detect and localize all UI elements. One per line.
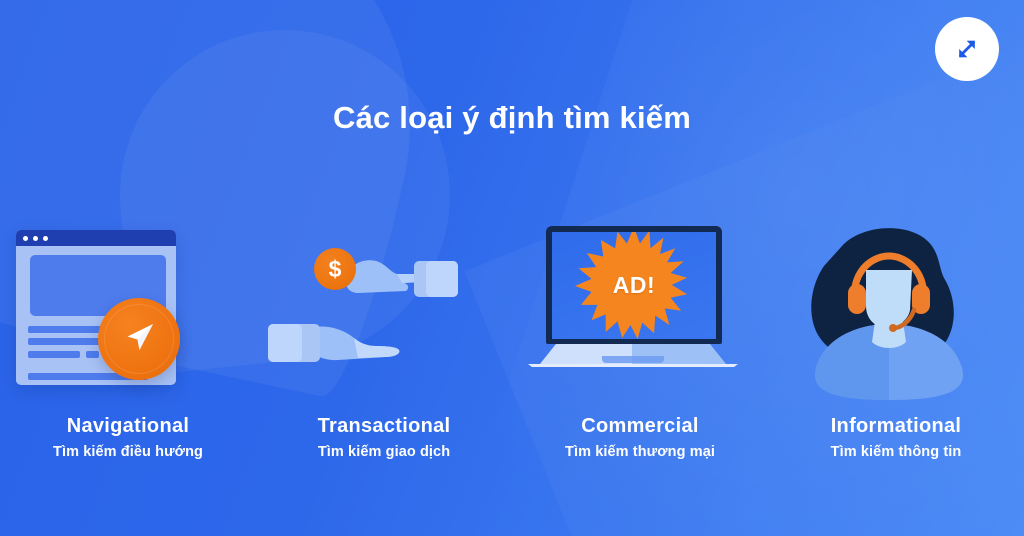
infographic-canvas: Các loại ý định tìm kiếm bbox=[0, 0, 1024, 536]
browser-dot-icon bbox=[23, 236, 28, 241]
intent-columns: Navigational Tìm kiếm điều hướng $ bbox=[0, 216, 1024, 486]
browser-dot-icon bbox=[43, 236, 48, 241]
laptop-device: AD! bbox=[520, 226, 746, 386]
label-en-transactional: Transactional bbox=[318, 414, 451, 439]
label-en-informational: Informational bbox=[831, 414, 962, 439]
browser-dot-icon bbox=[33, 236, 38, 241]
browser-text-line bbox=[86, 351, 99, 358]
hand-receiving-icon bbox=[266, 312, 416, 364]
headset-earcup-left-icon bbox=[848, 284, 866, 314]
laptop-screen: AD! bbox=[552, 232, 716, 339]
illustration-laptop-ad: AD! bbox=[512, 216, 768, 412]
laptop-trackpad bbox=[602, 356, 664, 363]
expand-button[interactable] bbox=[935, 17, 999, 81]
column-navigational[interactable]: Navigational Tìm kiếm điều hướng bbox=[0, 216, 256, 486]
browser-title-bar bbox=[16, 230, 176, 246]
illustration-support-agent bbox=[768, 216, 1024, 412]
label-en-navigational: Navigational bbox=[53, 414, 203, 439]
label-group-transactional: Transactional Tìm kiếm giao dịch bbox=[318, 414, 451, 460]
label-vi-commercial: Tìm kiếm thương mại bbox=[565, 444, 715, 460]
label-en-commercial: Commercial bbox=[565, 414, 715, 439]
dollar-coin: $ bbox=[314, 248, 356, 290]
navigation-badge bbox=[98, 298, 180, 380]
label-vi-informational: Tìm kiếm thông tin bbox=[831, 444, 962, 460]
browser-text-line bbox=[28, 351, 80, 358]
label-vi-navigational: Tìm kiếm điều hướng bbox=[53, 444, 203, 460]
ad-label: AD! bbox=[613, 271, 655, 298]
column-informational[interactable]: Informational Tìm kiếm thông tin bbox=[768, 216, 1024, 486]
paper-plane-navigation-icon bbox=[118, 316, 160, 363]
dollar-sign-icon: $ bbox=[329, 258, 342, 281]
support-agent-figure bbox=[798, 218, 980, 398]
label-group-navigational: Navigational Tìm kiếm điều hướng bbox=[53, 414, 203, 460]
column-transactional[interactable]: $ Transactional Tìm kiếm giao dịch bbox=[256, 216, 512, 486]
laptop-lid: AD! bbox=[546, 226, 722, 344]
page-title: Các loại ý định tìm kiếm bbox=[0, 100, 1024, 136]
agent-face bbox=[866, 270, 912, 328]
label-vi-transactional: Tìm kiếm giao dịch bbox=[318, 444, 451, 460]
column-commercial[interactable]: AD! Commercial Tìm kiếm thương mạ bbox=[512, 216, 768, 486]
illustration-hands-exchange: $ bbox=[256, 216, 512, 412]
label-group-commercial: Commercial Tìm kiếm thương mại bbox=[565, 414, 715, 460]
label-group-informational: Informational Tìm kiếm thông tin bbox=[831, 414, 962, 460]
illustration-browser-window bbox=[0, 216, 256, 412]
expand-diagonal-arrows-icon bbox=[952, 34, 982, 64]
